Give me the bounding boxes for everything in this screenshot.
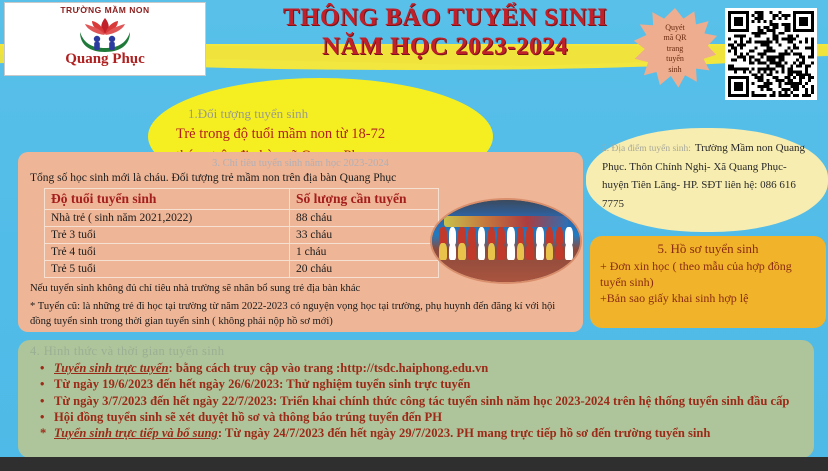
photo-child-figure <box>449 243 456 259</box>
list-item: •Tuyển sinh trực tuyến: bằng cách truy c… <box>30 360 804 376</box>
photo-child-figure <box>536 243 543 259</box>
title-line-1: THÔNG BÁO TUYỂN SINH <box>250 4 640 33</box>
section-2-location: 2. Địa điểm tuyển sinh: Trường Mầm non Q… <box>586 128 828 232</box>
section-4-methods-and-schedule: 4. Hình thức và thời gian tuyển sinh •Tu… <box>18 340 814 458</box>
section-1-heading: 1.Đối tượng tuyển sinh <box>188 106 308 122</box>
photo-child-figure <box>546 227 553 245</box>
school-logo: TRƯỜNG MẦM NON Quang Phục <box>4 2 206 76</box>
list-item: •Từ ngày 19/6/2023 đến hết ngày 26/6/202… <box>30 376 804 392</box>
list-item-text: Hội đồng tuyển sinh sẽ xét duyệt hồ sơ v… <box>54 410 442 424</box>
section-1-line-1: Trẻ trong độ tuổi mầm non từ 18-72 <box>176 124 385 145</box>
qr-callout-line-5: sinh <box>668 65 681 76</box>
photo-child-figure <box>507 243 514 259</box>
page-title: THÔNG BÁO TUYỂN SINH NĂM HỌC 2023-2024 <box>250 4 640 62</box>
cell-quantity: 33 cháu <box>290 227 439 244</box>
photo-child-figure <box>546 243 553 259</box>
list-item-emphasis: Tuyển sinh trực tuyến <box>54 361 169 375</box>
list-item-text: Từ ngày 19/6/2023 đến hết ngày 26/6/2023… <box>54 377 470 391</box>
section-3-note-2: * Tuyển cũ: là những trẻ đi học tại trườ… <box>30 300 573 329</box>
section-5-application-documents: 5. Hồ sơ tuyển sinh + Đơn xin học ( theo… <box>590 236 826 328</box>
section-4-heading: 4. Hình thức và thời gian tuyển sinh <box>30 344 804 359</box>
photo-children-row-back <box>438 227 574 245</box>
photo-child-figure <box>468 243 475 259</box>
cell-quantity: 20 cháu <box>290 261 439 278</box>
photo-child-figure <box>488 243 495 259</box>
table-row: Trẻ 4 tuổi1 cháu <box>45 244 439 261</box>
list-bullet: • <box>40 409 44 425</box>
cell-age-group: Trẻ 3 tuổi <box>45 227 290 244</box>
photo-child-figure <box>488 227 495 245</box>
logo-school-name: Quang Phục <box>65 52 145 67</box>
list-bullet: * <box>40 425 46 441</box>
photo-children-row-front <box>438 243 574 259</box>
section-5-heading: 5. Hồ sơ tuyển sinh <box>600 241 816 257</box>
list-item: •Từ ngày 3/7/2023 đến hết ngày 22/7/2023… <box>30 393 804 409</box>
photo-child-figure <box>458 227 465 245</box>
section-4-list: •Tuyển sinh trực tuyến: bằng cách truy c… <box>30 360 804 442</box>
photo-child-figure <box>507 227 514 245</box>
photo-child-figure <box>536 227 543 245</box>
section-5-line-1: + Đơn xin học ( theo mẫu của hợp đồng tu… <box>600 259 816 291</box>
photo-child-figure <box>556 243 563 259</box>
school-group-photo <box>430 198 582 284</box>
column-header-age: Độ tuổi tuyển sinh <box>45 189 290 210</box>
list-bullet: • <box>40 376 44 392</box>
cell-age-group: Trẻ 4 tuổi <box>45 244 290 261</box>
photo-banner <box>444 216 568 227</box>
table-row: Nhà trẻ ( sinh năm 2021,2022)88 cháu <box>45 210 439 227</box>
photo-child-figure <box>565 243 572 259</box>
photo-child-figure <box>468 227 475 245</box>
photo-child-figure <box>458 243 465 259</box>
photo-child-figure <box>517 243 524 259</box>
list-item-text: : Từ ngày 24/7/2023 đến hết ngày 29/7/20… <box>218 426 711 440</box>
photo-child-figure <box>497 227 504 245</box>
photo-child-figure <box>565 227 572 245</box>
title-line-2: NĂM HỌC 2023-2024 <box>250 33 640 62</box>
cell-age-group: Trẻ 5 tuổi <box>45 261 290 278</box>
enrollment-announcement-poster: TRƯỜNG MẦM NON Quang Phục THÔNG BÁO TUYỂ… <box>0 0 828 471</box>
list-bullet: • <box>40 360 44 376</box>
list-item-emphasis: Tuyển sinh trực tiếp và bổ sung <box>54 426 218 440</box>
list-item-text: : bằng cách truy cập vào trang :http://t… <box>169 361 489 375</box>
photo-child-figure <box>517 227 524 245</box>
column-header-quantity: Số lượng cần tuyển <box>290 189 439 210</box>
qr-callout-line-3: trang <box>667 44 683 55</box>
qr-callout-line-4: tuyển <box>666 54 684 65</box>
photo-child-figure <box>526 227 533 245</box>
section-3-lead: Tổng số học sinh mới là cháu. Đối tượng … <box>30 172 573 184</box>
quota-table: Độ tuổi tuyển sinh Số lượng cần tuyển Nh… <box>44 188 439 278</box>
table-header-row: Độ tuổi tuyển sinh Số lượng cần tuyển <box>45 189 439 210</box>
section-3-heading: 3. Chỉ tiêu tuyển sinh năm học 2023-2024 <box>28 158 573 169</box>
photo-child-figure <box>439 243 446 259</box>
section-2-heading: 2. Địa điểm tuyển sinh: <box>602 144 691 154</box>
table-row: Trẻ 3 tuổi33 cháu <box>45 227 439 244</box>
list-item: *Tuyển sinh trực tiếp và bổ sung: Từ ngà… <box>30 425 804 441</box>
photo-child-figure <box>478 227 485 245</box>
cell-quantity: 1 cháu <box>290 244 439 261</box>
qr-callout-line-1: Quyét <box>665 23 685 34</box>
photo-child-figure <box>449 227 456 245</box>
photo-child-figure <box>478 243 485 259</box>
list-bullet: • <box>40 393 44 409</box>
lotus-children-icon <box>70 14 140 54</box>
section-5-line-2: +Bản sao giấy khai sinh hợp lệ <box>600 291 816 307</box>
bottom-band <box>0 457 828 471</box>
qr-code[interactable] <box>725 8 817 100</box>
photo-child-figure <box>556 227 563 245</box>
photo-child-figure <box>526 243 533 259</box>
list-item: •Hội đồng tuyển sinh sẽ xét duyệt hồ sơ … <box>30 409 804 425</box>
list-item-text: Từ ngày 3/7/2023 đến hết ngày 22/7/2023:… <box>54 394 789 408</box>
section-3-note-1: Nếu tuyển sinh không đủ chỉ tiêu nhà trư… <box>30 282 573 296</box>
table-row: Trẻ 5 tuổi20 cháu <box>45 261 439 278</box>
cell-age-group: Nhà trẻ ( sinh năm 2021,2022) <box>45 210 290 227</box>
cell-quantity: 88 cháu <box>290 210 439 227</box>
qr-callout-line-2: mã QR <box>664 33 687 44</box>
photo-child-figure <box>439 227 446 245</box>
photo-child-figure <box>497 243 504 259</box>
